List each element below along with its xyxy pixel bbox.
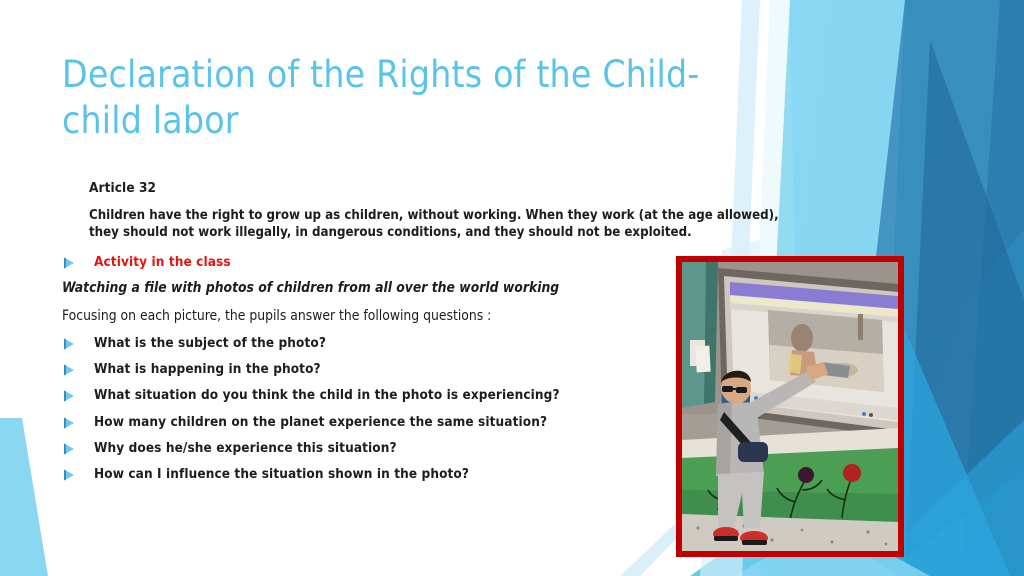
triangle-bullet-icon bbox=[62, 389, 94, 405]
triangle-bullet-icon bbox=[62, 256, 94, 272]
question-text: Why does he/she experience this situatio… bbox=[94, 440, 397, 456]
article-heading: Article 32 bbox=[89, 180, 792, 196]
slide-title: Declaration of the Rights of the Child- … bbox=[62, 52, 752, 145]
slide-canvas: Declaration of the Rights of the Child- … bbox=[0, 0, 1024, 576]
triangle-bullet-icon bbox=[62, 363, 94, 379]
triangle-bullet-icon bbox=[62, 416, 94, 432]
triangle-bullet-icon bbox=[62, 468, 94, 484]
triangle-bullet-icon bbox=[62, 442, 94, 458]
question-text: How many children on the planet experien… bbox=[94, 414, 547, 430]
article-text: Children have the right to grow up as ch… bbox=[89, 208, 789, 242]
question-text: What is happening in the photo? bbox=[94, 361, 321, 377]
question-text: What situation do you think the child in… bbox=[94, 387, 560, 403]
triangle-bullet-icon bbox=[62, 337, 94, 353]
activity-label: Activity in the class bbox=[94, 254, 231, 270]
classroom-photo bbox=[676, 256, 904, 557]
question-text: What is the subject of the photo? bbox=[94, 335, 326, 351]
question-text: How can I influence the situation shown … bbox=[94, 466, 469, 482]
